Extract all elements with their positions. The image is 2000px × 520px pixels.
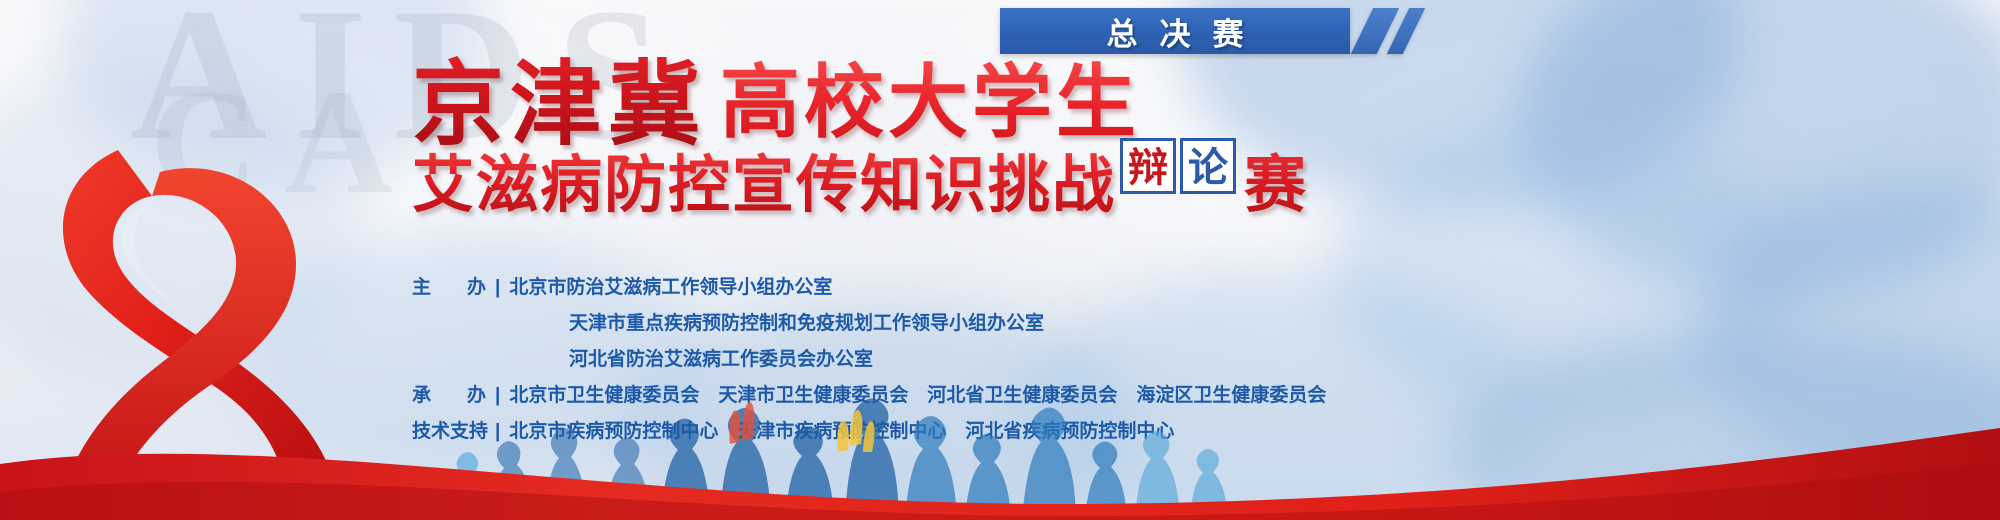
credit-row-organizer: 主 办 | 北京市防治艾滋病工作领导小组办公室 <box>412 272 1326 299</box>
boxed-characters: 辩论 <box>1120 134 1240 190</box>
credit-label-part-b: 办 <box>467 272 486 299</box>
watercolor-wash <box>1330 120 1800 420</box>
credit-separator: | <box>495 277 500 299</box>
credit-label-part-b: 办 <box>467 380 486 407</box>
credit-label: 技术支持 <box>412 416 486 443</box>
credit-value: 北京市疾病预防控制中心 天津市疾病预防控制中心 河北省疾病预防控制中心 <box>509 416 1174 443</box>
credit-row-organizer-cont: 河北省防治艾滋病工作委员会办公室 <box>569 344 1326 371</box>
credit-label-part-a: 技术 <box>412 416 450 443</box>
credit-separator: | <box>495 385 500 407</box>
credit-label-part-a: 承 <box>412 380 431 407</box>
watercolor-wash <box>1520 0 2000 300</box>
ghost-text-ca: CA <box>150 56 419 228</box>
credit-label: 承 办 <box>412 380 486 407</box>
credit-row-organizer-cont: 天津市重点疾病预防控制和免疫规划工作领导小组办公室 <box>569 308 1326 335</box>
credit-label-part-a: 主 <box>412 272 431 299</box>
credit-separator: | <box>495 421 500 443</box>
credits-block: 主 办 | 北京市防治艾滋病工作领导小组办公室 天津市重点疾病预防控制和免疫规划… <box>412 272 1326 452</box>
boxed-char-lun: 论 <box>1180 138 1236 194</box>
credit-label: 主 办 <box>412 272 486 299</box>
watercolor-wash <box>1450 330 2000 520</box>
title-topic-label: 艾滋病防控宣传知识挑战 <box>412 148 1116 221</box>
watercolor-wash <box>1700 180 2000 480</box>
credit-label-part-b: 支持 <box>450 416 488 443</box>
credit-row-host: 承 办 | 北京市卫生健康委员会 天津市卫生健康委员会 河北省卫生健康委员会 海… <box>412 380 1326 407</box>
credit-value: 北京市卫生健康委员会 天津市卫生健康委员会 河北省卫生健康委员会 海淀区卫生健康… <box>509 380 1326 407</box>
boxed-char-bian: 辩 <box>1120 138 1176 194</box>
credit-value: 天津市重点疾病预防控制和免疫规划工作领导小组办公室 <box>569 308 1044 335</box>
credit-value: 河北省防治艾滋病工作委员会办公室 <box>569 344 873 371</box>
title-competition-label: 赛 <box>1244 134 1306 224</box>
title-line-2: 艾滋病防控宣传知识挑战辩论赛 <box>412 134 1306 224</box>
credit-value: 北京市防治艾滋病工作领导小组办公室 <box>509 272 832 299</box>
event-banner: AIDS CA 总决赛 京津冀高校大学生 艾滋病防控宣传知识挑战辩论赛 主 办 … <box>0 0 2000 520</box>
credit-row-tech-support: 技术支持 | 北京市疾病预防控制中心 天津市疾病预防控制中心 河北省疾病预防控制… <box>412 416 1326 443</box>
